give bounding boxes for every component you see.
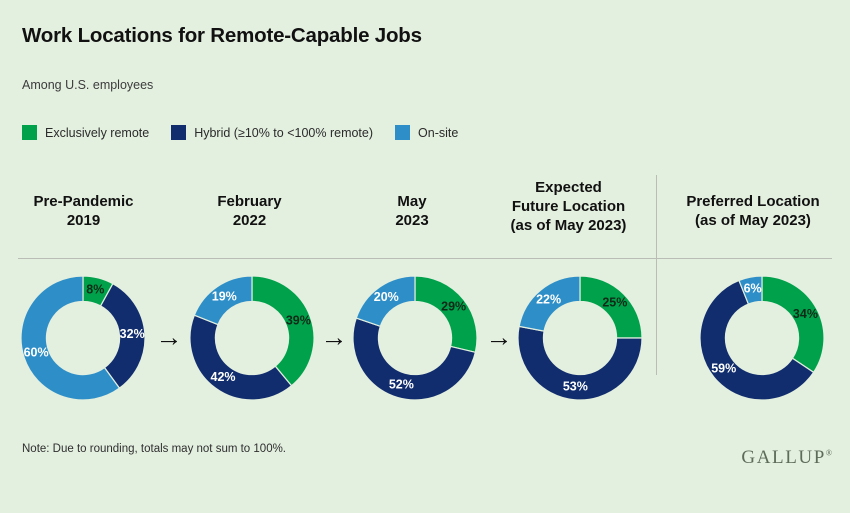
- donut-slice-label: 52%: [389, 378, 414, 392]
- column-heading-line: February: [172, 192, 327, 211]
- column-heading-may-2023: May 2023: [338, 192, 486, 230]
- column-heading-line: Future Location: [486, 197, 651, 216]
- legend-item-label: On-site: [418, 126, 458, 140]
- legend-swatch: [395, 125, 410, 140]
- vertical-divider: [656, 175, 657, 375]
- column-heading-expected-future-location: Expected Future Location (as of May 2023…: [486, 178, 651, 236]
- donut-slice-label: 25%: [602, 295, 627, 309]
- column-heading-line: 2023: [338, 211, 486, 230]
- column-heading-line: Pre-Pandemic: [6, 192, 161, 211]
- donut-slice: [415, 276, 477, 352]
- arrow-2-to-3-icon: →: [317, 322, 351, 352]
- chart-canvas: Work Locations for Remote-Capable Jobs A…: [0, 0, 850, 513]
- donut-slice-label: 32%: [120, 327, 145, 341]
- donut-slice-label: 39%: [286, 314, 311, 328]
- donut-chart-preferred-location-may-2023: 34%59%6%: [700, 276, 824, 400]
- column-heading-february-2022: February 2022: [172, 192, 327, 230]
- donut-slice-label: 6%: [744, 282, 762, 296]
- column-heading-line: 2019: [6, 211, 161, 230]
- donut-chart-expected-future-location-may-2023: 25%53%22%: [518, 276, 642, 400]
- donut-chart-february-2022: 39%42%19%: [190, 276, 314, 400]
- donut-slice-label: 60%: [24, 346, 49, 360]
- column-heading-line: (as of May 2023): [662, 211, 844, 230]
- donut-slice-label: 34%: [793, 307, 818, 321]
- column-heading-line: (as of May 2023): [486, 216, 651, 235]
- arrow-3-to-4-icon: →: [482, 322, 516, 352]
- legend-item-label: Exclusively remote: [45, 126, 149, 140]
- legend-item-label: Hybrid (≥10% to <100% remote): [194, 126, 373, 140]
- donut-slice: [762, 276, 824, 372]
- legend-item: Exclusively remote: [22, 125, 149, 140]
- donut-slice-label: 8%: [86, 282, 104, 296]
- legend-swatch: [22, 125, 37, 140]
- donut-slice-label: 22%: [536, 292, 561, 306]
- column-heading-line: May: [338, 192, 486, 211]
- page-subtitle: Among U.S. employees: [22, 78, 153, 92]
- column-heading-line: Preferred Location: [662, 192, 844, 211]
- page-title: Work Locations for Remote-Capable Jobs: [22, 24, 422, 48]
- arrow-1-to-2-icon: →: [152, 322, 186, 352]
- donut-slice-label: 29%: [441, 300, 466, 314]
- registered-mark: ®: [826, 449, 832, 458]
- column-heading-line: 2022: [172, 211, 327, 230]
- donut-slice: [190, 315, 292, 400]
- donut-slice-label: 42%: [211, 370, 236, 384]
- legend-item: Hybrid (≥10% to <100% remote): [171, 125, 373, 140]
- chart-note: Note: Due to rounding, totals may not su…: [22, 443, 286, 455]
- donut-slice-label: 19%: [212, 290, 237, 304]
- column-heading-preferred-location: Preferred Location (as of May 2023): [662, 192, 844, 230]
- donut-chart-may-2023: 29%52%20%: [353, 276, 477, 400]
- chart-legend: Exclusively remoteHybrid (≥10% to <100% …: [22, 125, 480, 140]
- donut-slice-label: 59%: [711, 361, 736, 375]
- legend-swatch: [171, 125, 186, 140]
- donut-slice: [252, 276, 314, 386]
- gallup-logo: GALLUP®: [741, 447, 832, 469]
- donut-slice-label: 53%: [563, 379, 588, 393]
- column-heading-line: Expected: [486, 178, 651, 197]
- column-heading-pre-pandemic-2019: Pre-Pandemic 2019: [6, 192, 161, 230]
- horizontal-divider: [18, 258, 832, 259]
- gallup-logo-text: GALLUP: [741, 447, 826, 468]
- legend-item: On-site: [395, 125, 458, 140]
- donut-chart-pre-pandemic-2019: 8%32%60%: [21, 276, 145, 400]
- donut-slice-label: 20%: [374, 290, 399, 304]
